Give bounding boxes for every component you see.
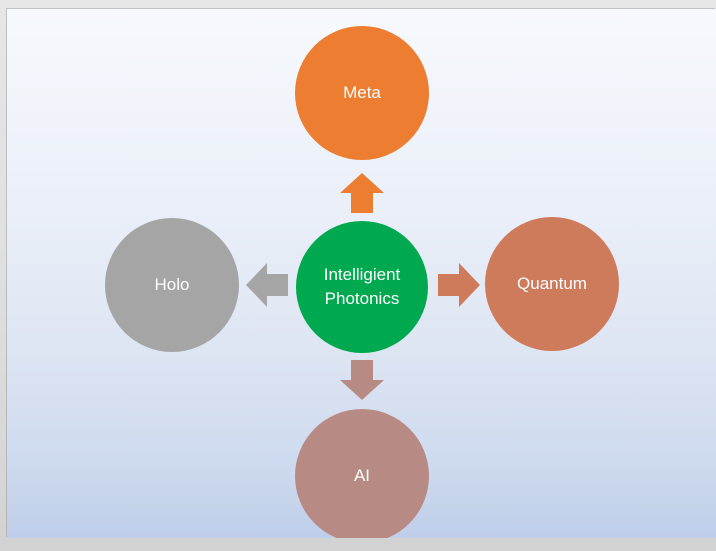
node-label-ai: AI [354,464,370,488]
arrow-right-icon [437,262,481,308]
node-circle-meta[interactable]: Meta [295,26,429,160]
arrow-down-icon [339,359,385,401]
node-circle-center[interactable]: Intelligient Photonics [296,221,428,353]
node-label-meta: Meta [343,81,381,105]
slide-frame: Meta Holo Intelligient Photonics [0,0,716,551]
node-circle-ai[interactable]: AI [295,409,429,538]
node-label-quantum: Quantum [517,272,587,296]
node-circle-quantum[interactable]: Quantum [485,217,619,351]
node-label-center: Intelligient Photonics [324,263,401,311]
arrow-up-icon [339,172,385,214]
slide-canvas: Meta Holo Intelligient Photonics [7,9,716,538]
node-circle-holo[interactable]: Holo [105,218,239,352]
node-label-holo: Holo [155,273,190,297]
arrow-left-icon [245,262,289,308]
